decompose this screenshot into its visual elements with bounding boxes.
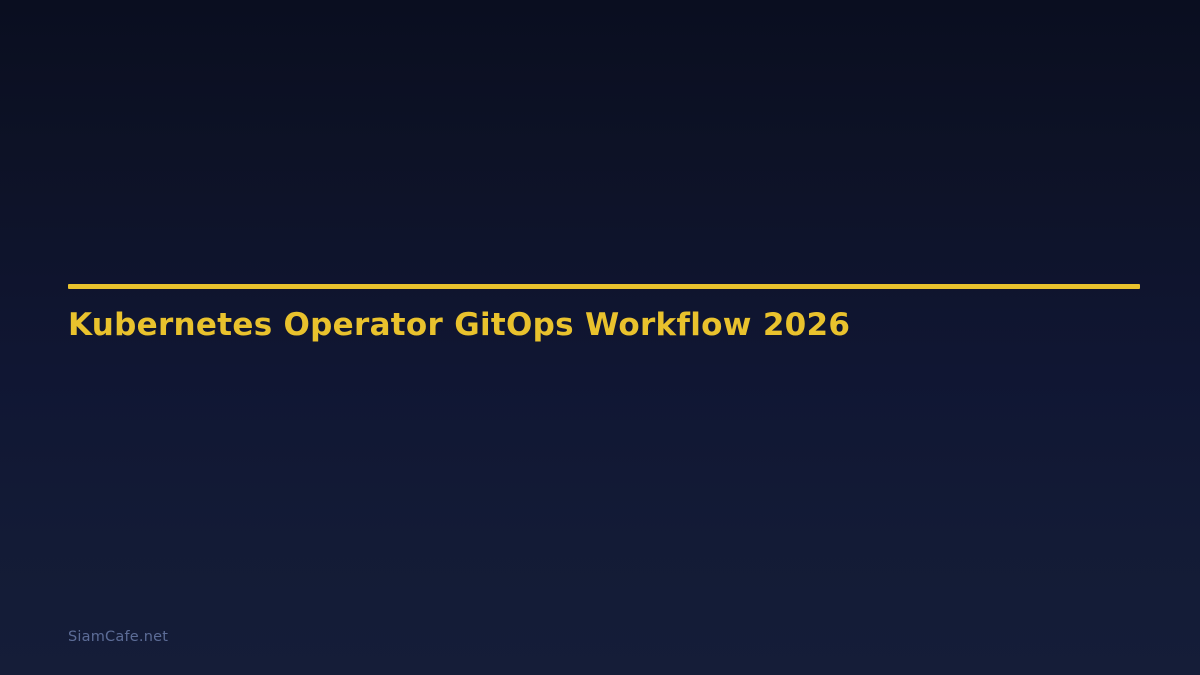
accent-rule (68, 284, 1140, 289)
slide-canvas: Kubernetes Operator GitOps Workflow 2026… (0, 0, 1200, 675)
title-block: Kubernetes Operator GitOps Workflow 2026 (68, 284, 1140, 344)
page-title: Kubernetes Operator GitOps Workflow 2026 (68, 307, 1140, 344)
footer-attribution: SiamCafe.net (68, 629, 168, 645)
